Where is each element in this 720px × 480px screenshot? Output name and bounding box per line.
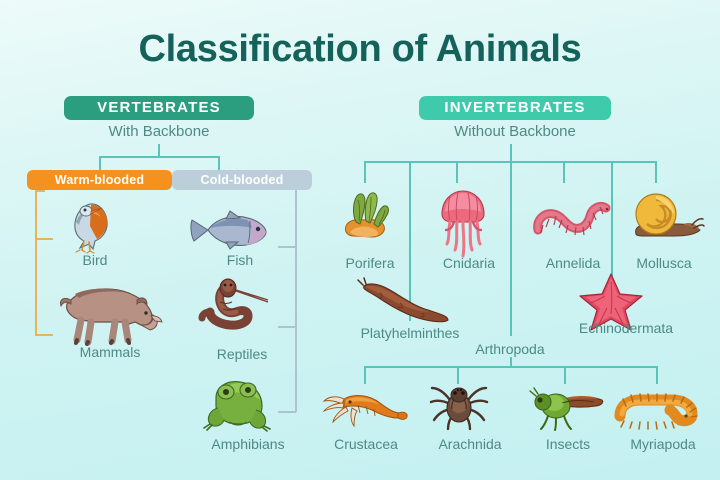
snail-icon (626, 192, 704, 244)
connector-drop-crustacea (364, 366, 366, 384)
shrimp-icon (322, 385, 408, 431)
label-fish: Fish (190, 252, 290, 268)
frog-icon (196, 376, 276, 432)
connector-drop-mollusca (655, 161, 657, 183)
connector-drop-insects (564, 366, 566, 384)
bird-icon (60, 196, 130, 254)
label-mammals: Mammals (45, 344, 175, 360)
bracket-warm-tick-mammals (35, 334, 53, 336)
connector-drop-arthropoda (510, 161, 512, 336)
bracket-cold-spine (295, 190, 297, 412)
label-crustacea: Crustacea (320, 436, 412, 452)
earthworm-icon (530, 196, 612, 244)
page-title: Classification of Animals (0, 28, 720, 71)
label-platyhelminthes: Platyhelminthes (340, 325, 480, 341)
label-echinodermata: Echinodermata (556, 320, 696, 336)
sponge-icon (336, 188, 400, 250)
fish-icon (186, 208, 272, 252)
bracket-warm-tick-bird (35, 238, 53, 240)
invertebrates-badge: INVERTEBRATES (419, 96, 611, 120)
infographic-canvas: Classification of Animals VERTEBRATES Wi… (0, 0, 720, 480)
vertebrates-subtitle: With Backbone (64, 123, 254, 140)
label-myriapoda: Myriapoda (612, 436, 714, 452)
boar-icon (55, 278, 165, 344)
connector-drop-cnidaria (456, 161, 458, 183)
connector-vert-bus (99, 156, 219, 158)
label-bird: Bird (40, 252, 150, 268)
label-mollusca: Mollusca (616, 255, 712, 271)
connector-vert-drop-cold (218, 156, 220, 170)
label-amphibians: Amphibians (178, 436, 318, 452)
vertebrates-badge: VERTEBRATES (64, 96, 254, 120)
label-arachnida: Arachnida (420, 436, 520, 452)
bracket-cold-tick-amphibians (278, 411, 296, 413)
label-arthropoda: Arthropoda (450, 341, 570, 357)
label-annelida: Annelida (528, 255, 618, 271)
invertebrates-subtitle: Without Backbone (419, 123, 611, 140)
fly-icon (528, 386, 610, 430)
bracket-warm-spine (35, 190, 37, 335)
bracket-cold-tick-reptiles (278, 326, 296, 328)
connector-drop-myriapoda (656, 366, 658, 384)
label-porifera: Porifera (330, 255, 410, 271)
bracket-cold-tick-fish (278, 246, 296, 248)
spider-icon (428, 382, 490, 432)
connector-invert-stem (510, 144, 512, 162)
snake-icon (190, 278, 280, 340)
label-reptiles: Reptiles (182, 346, 302, 362)
connector-vert-drop-warm (99, 156, 101, 170)
jellyfish-icon (432, 186, 494, 262)
label-insects: Insects (528, 436, 608, 452)
cold-blooded-pill: Cold-blooded (172, 170, 312, 190)
connector-drop-annelida (563, 161, 565, 183)
flatworm-icon (356, 276, 454, 326)
connector-arthropoda-bus (364, 366, 656, 368)
centipede-icon (614, 388, 698, 430)
connector-drop-porifera (364, 161, 366, 183)
bracket-warm-top (35, 190, 45, 192)
warm-blooded-pill: Warm-blooded (27, 170, 172, 190)
label-cnidaria: Cnidaria (424, 255, 514, 271)
